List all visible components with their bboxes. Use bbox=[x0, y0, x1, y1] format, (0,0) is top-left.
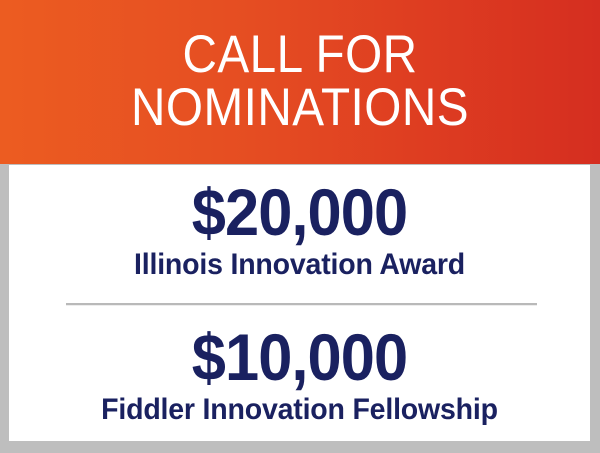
award-title: Fiddler Innovation Fellowship bbox=[24, 394, 576, 426]
award-item-fiddler-innovation-fellowship: $10,000 Fiddler Innovation Fellowship bbox=[9, 324, 590, 426]
banner-header: CALL FOR NOMINATIONS bbox=[0, 0, 600, 164]
call-for-nominations-poster: CALL FOR NOMINATIONS $20,000 Illinois In… bbox=[0, 0, 600, 453]
award-amount: $20,000 bbox=[29, 179, 569, 245]
banner-title-line-1: CALL FOR bbox=[30, 30, 570, 81]
panel-frame: $20,000 Illinois Innovation Award $10,00… bbox=[0, 164, 600, 453]
award-item-illinois-innovation-award: $20,000 Illinois Innovation Award bbox=[9, 179, 590, 281]
banner-title-line-2: NOMINATIONS bbox=[30, 83, 570, 134]
banner-title-group: CALL FOR NOMINATIONS bbox=[0, 30, 600, 134]
section-divider bbox=[66, 303, 537, 306]
award-amount: $10,000 bbox=[29, 324, 569, 390]
awards-panel: $20,000 Illinois Innovation Award $10,00… bbox=[9, 165, 590, 441]
award-title: Illinois Innovation Award bbox=[24, 249, 576, 281]
